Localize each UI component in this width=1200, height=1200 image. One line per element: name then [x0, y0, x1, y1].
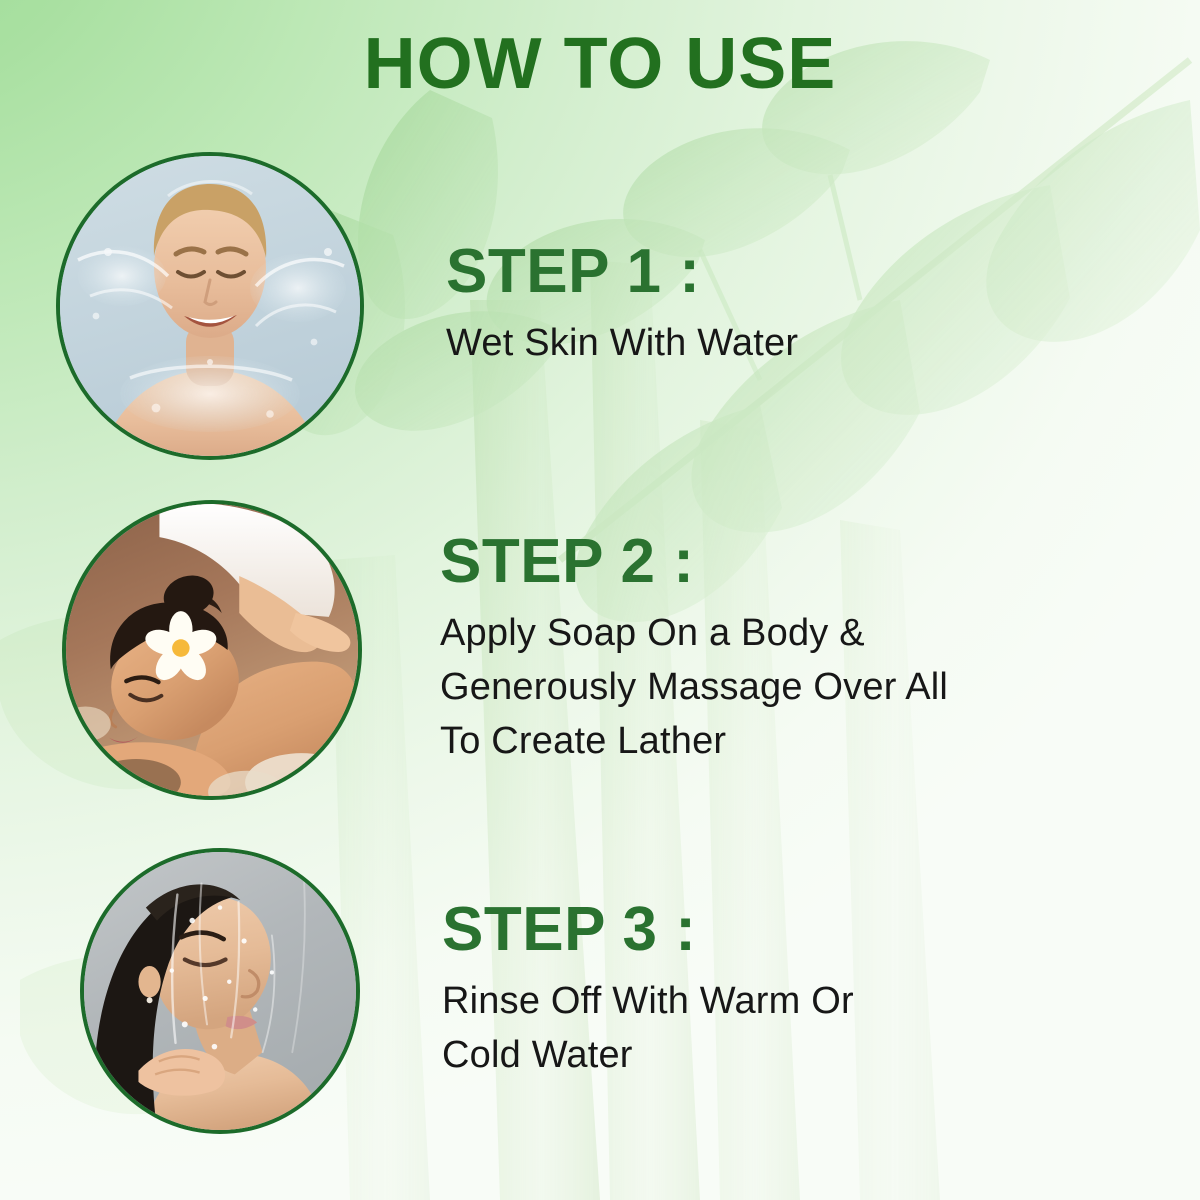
step-1-text-block: STEP 1 : Wet Skin With Water: [446, 241, 1176, 371]
step-1-heading: STEP 1 :: [446, 241, 1176, 303]
step-3-photo-circle: [80, 848, 360, 1134]
woman-splashing-water-on-face-photo: [60, 156, 360, 456]
step-2-body-line-3: To Create Lather: [440, 715, 1182, 769]
step-3-body-line-1: Rinse Off With Warm Or: [442, 975, 1180, 1029]
woman-rinsing-in-shower-photo: [84, 852, 356, 1130]
step-2-body-line-2: Generously Massage Over All: [440, 661, 1182, 715]
step-item-1: STEP 1 : Wet Skin With Water: [56, 152, 1176, 460]
step-2-text-block: STEP 2 : Apply Soap On a Body & Generous…: [440, 531, 1182, 769]
step-2-body: Apply Soap On a Body & Generously Massag…: [440, 607, 1182, 769]
page-title: HOW TO USE: [0, 26, 1200, 104]
step-3-text-block: STEP 3 : Rinse Off With Warm Or Cold Wat…: [442, 899, 1180, 1083]
step-2-heading: STEP 2 :: [440, 531, 1182, 593]
step-item-2: STEP 2 : Apply Soap On a Body & Generous…: [62, 500, 1182, 800]
step-3-body: Rinse Off With Warm Or Cold Water: [442, 975, 1180, 1083]
step-2-body-line-1: Apply Soap On a Body &: [440, 607, 1182, 661]
step-item-3: STEP 3 : Rinse Off With Warm Or Cold Wat…: [80, 848, 1180, 1134]
woman-receiving-spa-massage-photo: [66, 504, 358, 796]
step-1-body: Wet Skin With Water: [446, 317, 1176, 371]
how-to-use-poster: HOW TO USE: [0, 0, 1200, 1200]
step-1-body-line-1: Wet Skin With Water: [446, 317, 1176, 371]
step-1-photo-circle: [56, 152, 364, 460]
step-3-body-line-2: Cold Water: [442, 1029, 1180, 1083]
step-3-heading: STEP 3 :: [442, 899, 1180, 961]
step-2-photo-circle: [62, 500, 362, 800]
